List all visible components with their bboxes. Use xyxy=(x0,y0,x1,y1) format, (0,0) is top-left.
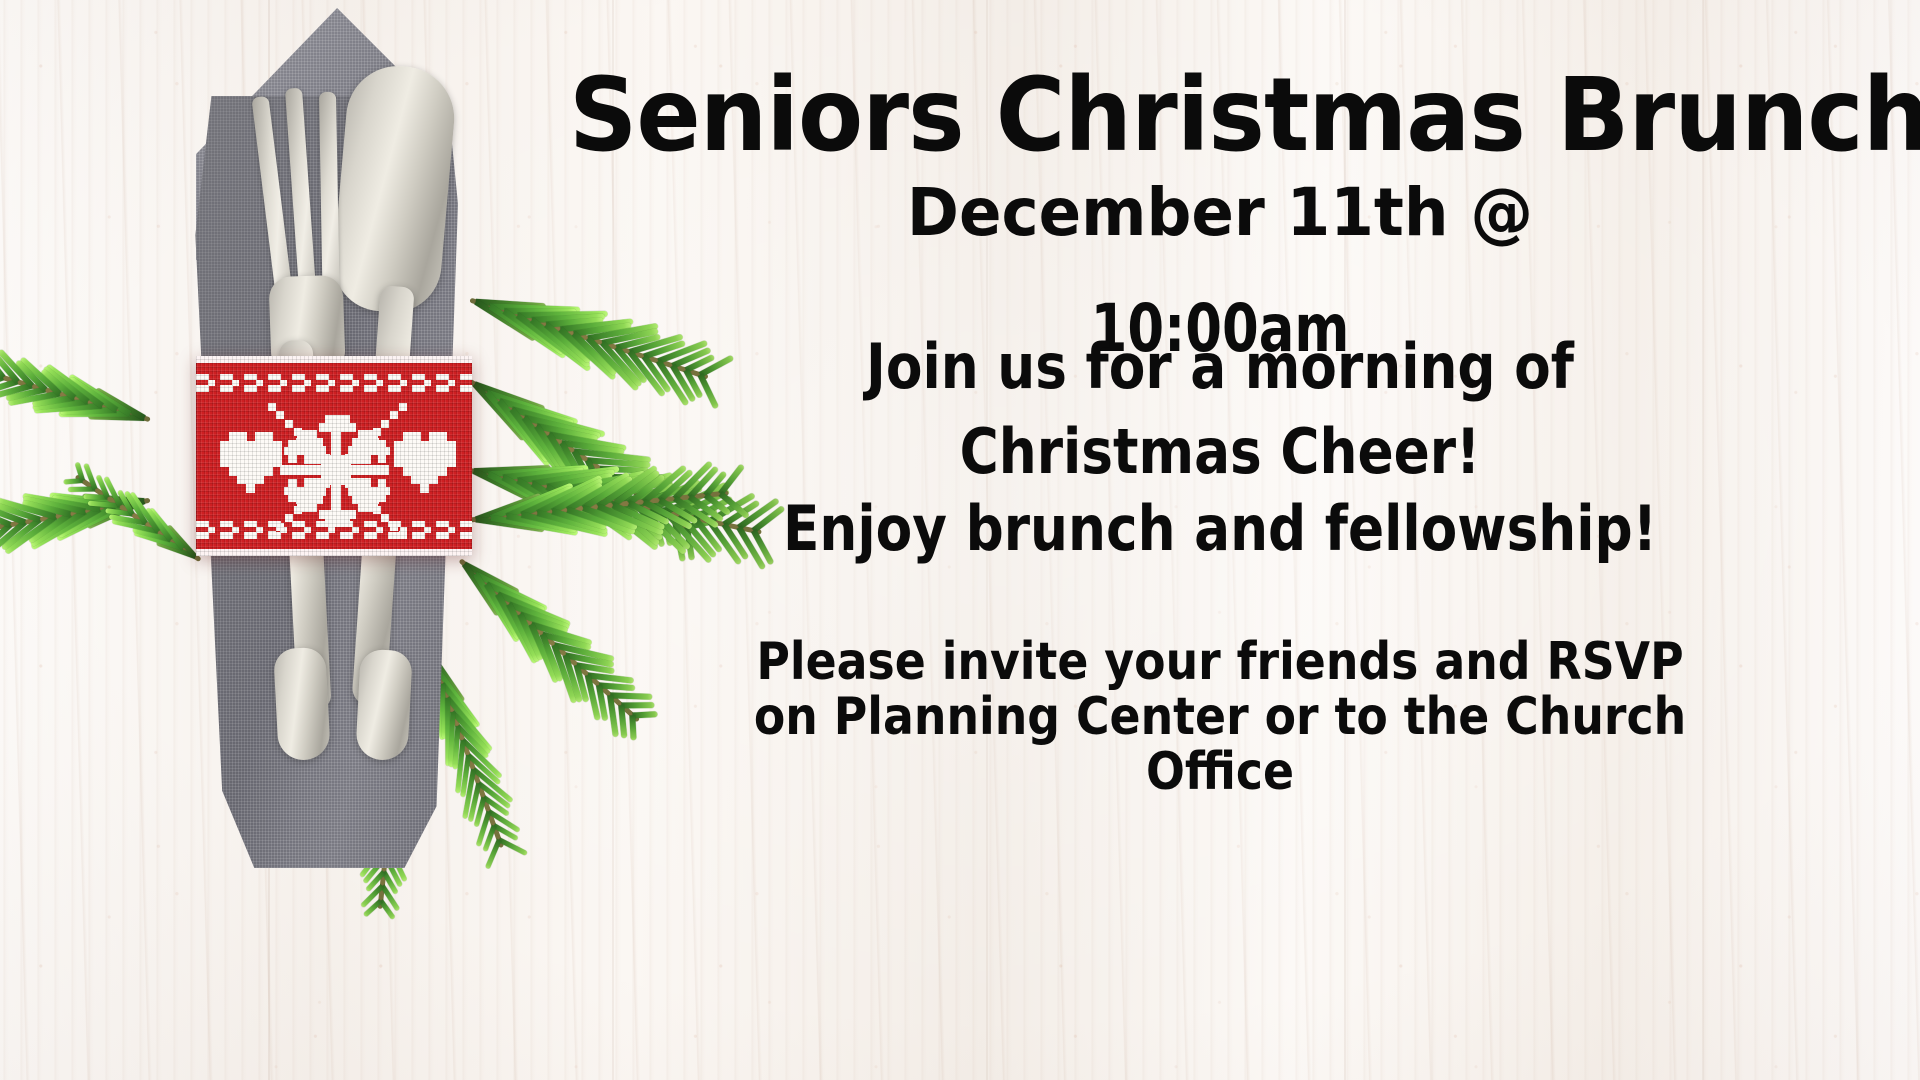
stitch-pixel xyxy=(466,532,472,538)
stitch-pixel xyxy=(381,514,389,522)
stitch-pixel xyxy=(418,532,425,538)
stitch-pixel xyxy=(226,532,233,538)
stitch-pixel xyxy=(394,385,401,391)
stitch-pixel xyxy=(250,385,257,391)
stitch-pixel xyxy=(400,380,407,386)
stitch-pixel xyxy=(246,484,255,493)
stitch-pixel xyxy=(208,527,215,533)
stitch-pixel xyxy=(288,479,296,487)
stitch-pixel xyxy=(378,455,386,463)
stitch-pixel xyxy=(378,494,386,502)
stitch-pixel xyxy=(346,532,353,538)
stitch-pixel xyxy=(352,527,359,533)
stitch-pixel xyxy=(376,527,383,533)
fir-needle xyxy=(68,487,95,492)
stitch-pixel xyxy=(232,380,239,386)
stitch-pixel xyxy=(250,532,257,538)
stitch-pixel xyxy=(303,497,311,505)
invite-line-3: Enjoy brunch and fellowship! xyxy=(618,492,1822,565)
stitch-pixel xyxy=(232,527,239,533)
stitch-pixel xyxy=(298,385,305,391)
stitch-pixel xyxy=(322,532,329,538)
stitch-pixel xyxy=(378,440,386,448)
red-nordic-cross-stitch-band xyxy=(196,356,472,556)
stitch-pixel xyxy=(208,380,215,386)
stitch-pixel xyxy=(370,385,377,391)
stitch-pixel xyxy=(466,521,472,527)
stitch-pixel xyxy=(304,527,311,533)
silver-spoon xyxy=(329,62,458,316)
stitch-pixel xyxy=(442,385,449,391)
stitch-pixel xyxy=(321,455,352,485)
stitch-pixel xyxy=(418,385,425,391)
stitch-pixel xyxy=(294,506,302,514)
band-bottom-edge xyxy=(196,549,472,556)
stitch-pixel xyxy=(285,420,293,428)
stitch-pixel xyxy=(466,374,472,380)
invite-line-1: Join us for a morning of xyxy=(618,330,1822,403)
stitch-pixel xyxy=(294,428,302,436)
rsvp-line-1: Please invite your friends and RSVP xyxy=(604,632,1836,692)
stitch-pixel xyxy=(381,420,389,428)
stitch-pixel xyxy=(364,437,372,445)
stitch-pixel xyxy=(268,403,276,411)
stitch-pixel xyxy=(328,380,335,386)
stitch-pixel xyxy=(424,527,431,533)
stitch-pixel xyxy=(466,385,472,391)
stitch-pixel xyxy=(346,385,353,391)
christmas-brunch-poster: Seniors Christmas Brunch December 11th @… xyxy=(0,0,1920,1080)
stitch-pixel xyxy=(304,380,311,386)
stitch-pixel xyxy=(280,380,287,386)
poster-date-line: December 11th @ xyxy=(555,174,1885,251)
stitch-pixel xyxy=(256,527,263,533)
stitch-pixel xyxy=(288,440,296,448)
stitch-pixel xyxy=(370,532,377,538)
stitch-pixel xyxy=(288,494,296,502)
stitch-pixel xyxy=(373,428,381,436)
stitch-pixel xyxy=(373,506,381,514)
stitch-pixel xyxy=(448,527,455,533)
stitch-pixel xyxy=(319,423,356,432)
stitch-pixel xyxy=(399,531,407,539)
stitch-pixel xyxy=(276,411,284,419)
poster-text-block: Seniors Christmas Brunch December 11th @… xyxy=(520,0,1920,1080)
stitch-pixel xyxy=(352,380,359,386)
band-top-edge xyxy=(196,356,472,363)
stitch-pixel xyxy=(399,403,407,411)
rsvp-line-3: Office xyxy=(604,742,1836,802)
stitch-pixel xyxy=(328,527,335,533)
fork-handle-tip xyxy=(273,647,331,762)
stitch-pixel xyxy=(298,532,305,538)
stitch-pixel xyxy=(424,380,431,386)
stitch-pixel xyxy=(202,385,209,391)
poster-headline: Seniors Christmas Brunch xyxy=(569,56,1871,175)
stitch-pixel xyxy=(390,411,398,419)
stitch-pixel xyxy=(285,514,293,522)
stitch-pixel xyxy=(274,385,281,391)
stitch-pixel xyxy=(256,380,263,386)
rsvp-line-2: on Planning Center or to the Church xyxy=(604,687,1836,747)
stitch-pixel xyxy=(348,446,376,455)
stitch-pixel xyxy=(202,532,209,538)
invite-line-2: Christmas Cheer! xyxy=(618,415,1822,488)
stitch-pixel xyxy=(268,531,276,539)
stitch-pixel xyxy=(378,479,386,487)
stitch-pixel xyxy=(376,380,383,386)
stitch-pixel xyxy=(448,380,455,386)
stitch-pixel xyxy=(322,385,329,391)
stitch-pixel xyxy=(276,523,284,531)
stitch-pixel xyxy=(390,523,398,531)
stitch-pixel xyxy=(288,455,296,463)
stitch-pixel xyxy=(325,518,350,527)
stitch-pixel xyxy=(420,484,429,493)
stitch-pixel xyxy=(364,497,372,505)
stitch-pixel xyxy=(226,385,233,391)
stitch-pixel xyxy=(442,532,449,538)
silver-spoon-handle-tip xyxy=(355,649,413,762)
stitch-pixel xyxy=(303,437,311,445)
stitch-pixel xyxy=(325,415,350,424)
